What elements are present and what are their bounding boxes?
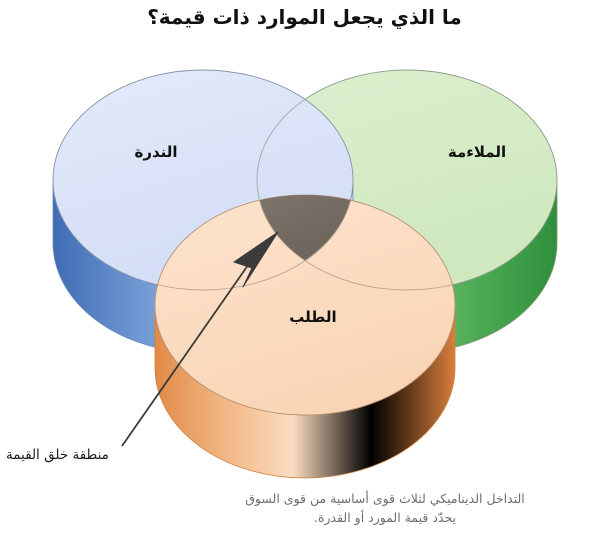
- infographic-canvas: ما الذي يجعل الموارد ذات قيمة؟: [0, 0, 609, 552]
- footer-caption: التداخل الديناميكي لثلاث قوى أساسية من ق…: [175, 489, 595, 528]
- footer-caption-line-1: التداخل الديناميكي لثلاث قوى أساسية من ق…: [175, 489, 595, 508]
- value-zone-callout-label: منطقة خلق القيمة: [6, 447, 206, 463]
- footer-caption-line-2: يحدّد قيمة المورد أو القدرة.: [175, 508, 595, 527]
- venn-diagram-graphic: [0, 0, 609, 552]
